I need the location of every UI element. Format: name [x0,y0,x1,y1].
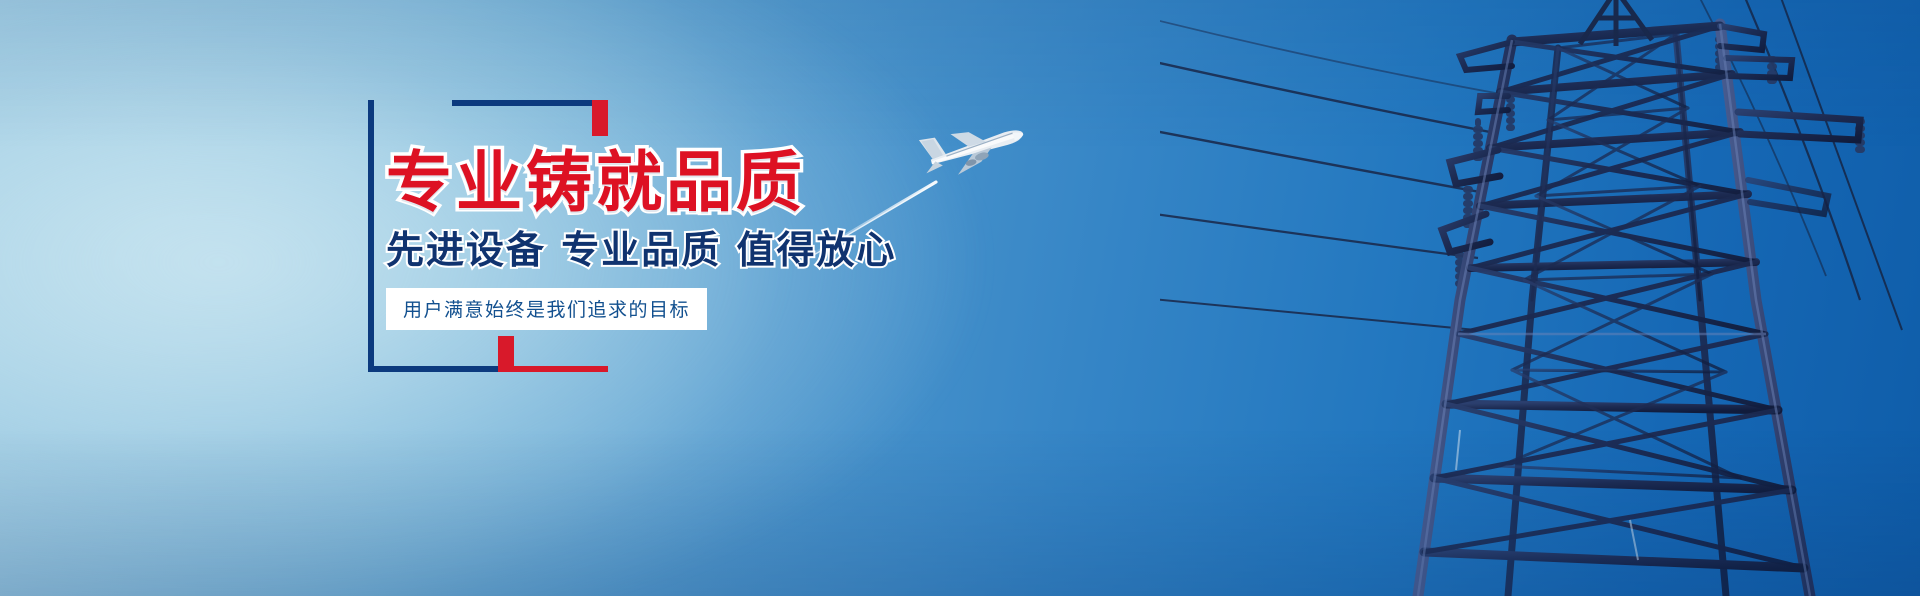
promo-banner: 专业铸就品质 先进设备 专业品质 值得放心 用户满意始终是我们追求的目标 [0,0,1920,596]
banner-subline: 先进设备 专业品质 值得放心 [386,230,1006,272]
frame-left-bar [368,100,374,372]
frame-bottom-red-accent-horizontal [498,366,608,372]
banner-text-block: 专业铸就品质 先进设备 专业品质 值得放心 用户满意始终是我们追求的目标 [386,150,1006,330]
frame-top-bar [452,100,608,106]
banner-headline: 专业铸就品质 [386,150,1006,216]
banner-tagline-box: 用户满意始终是我们追求的目标 [386,288,707,330]
frame-top-red-accent [592,100,608,136]
banner-tagline: 用户满意始终是我们追求的目标 [403,299,690,321]
